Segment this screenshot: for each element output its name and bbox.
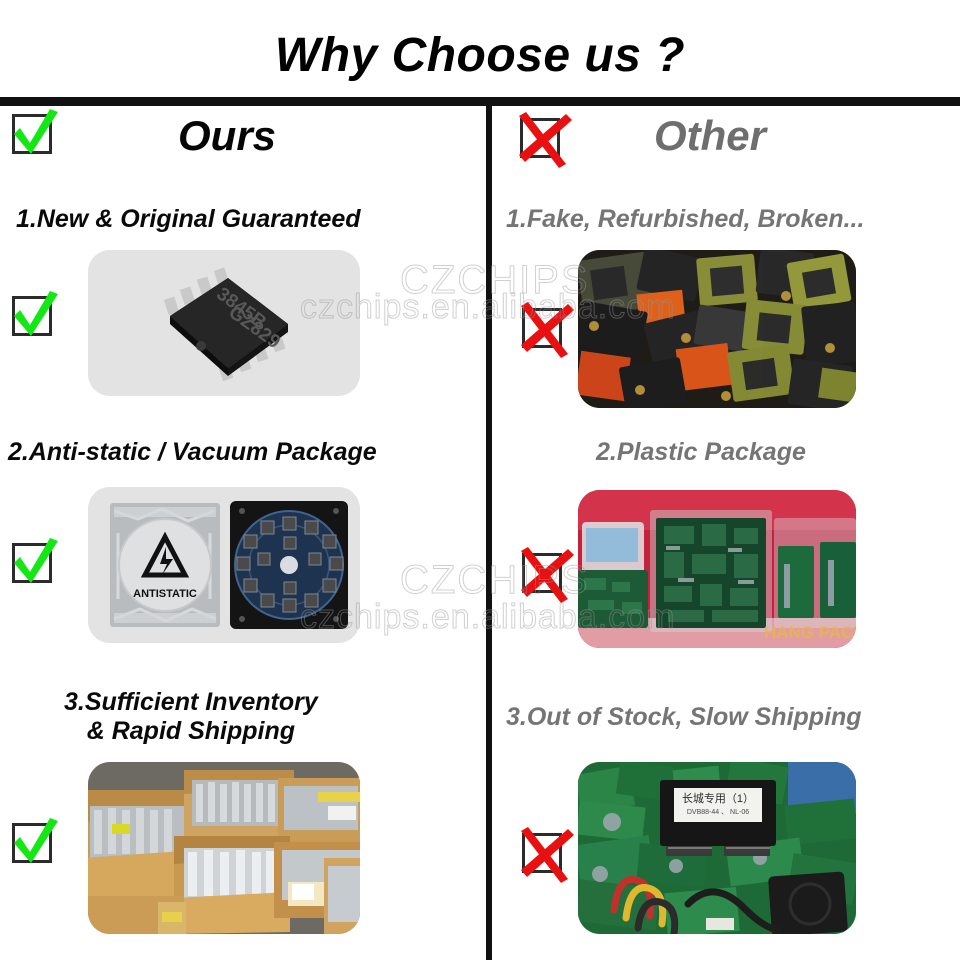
photo-stocked-cartons [88, 762, 360, 934]
check-mark-icon [6, 288, 62, 344]
check-mark-icon [6, 815, 62, 871]
row-label-left-3: 3.Sufficient Inventory & Rapid Shipping [64, 688, 318, 747]
cross-mark-icon [516, 300, 572, 356]
page-title: Why Choose us ? [0, 28, 960, 83]
check-mark-icon [6, 106, 62, 162]
column-divider [486, 104, 492, 960]
row-label-right-3: 3.Out of Stock, Slow Shipping [506, 703, 862, 732]
row-label-right-1: 1.Fake, Refurbished, Broken... [506, 205, 864, 234]
column-heading-other: Other [654, 112, 766, 160]
svg-text:DVB88-44 、 NL-06: DVB88-44 、 NL-06 [687, 809, 749, 816]
row-label-right-2: 2.Plastic Package [596, 438, 806, 467]
watermark-brand: CZCHIPS [400, 258, 590, 303]
header-divider [0, 97, 960, 106]
photo-scrap-chips [578, 250, 856, 408]
svg-text:HANG PACK: HANG PACK [764, 623, 856, 642]
cross-mark-icon [514, 110, 570, 166]
cross-mark-icon [516, 545, 572, 601]
row-label-left-1: 1.New & Original Guaranteed [16, 205, 361, 234]
photo-plastic-package: HANG PACK [578, 490, 856, 648]
photo-ic-chip: 3845B GZ829 [88, 250, 360, 396]
column-heading-ours: Ours [178, 112, 276, 160]
comparison-infographic: Why Choose us ? Ours Other 1.New & Origi… [0, 0, 960, 960]
photo-pcb-scrap-pile: 长城专用（1） DVB88-44 、 NL-06 [578, 762, 856, 934]
photo-antistatic-package: ANTISTATIC [88, 487, 360, 643]
check-mark-icon [6, 535, 62, 591]
svg-text:长城专用（1）: 长城专用（1） [682, 791, 754, 805]
cross-mark-icon [516, 825, 572, 881]
svg-text:ANTISTATIC: ANTISTATIC [133, 588, 197, 600]
row-label-left-2: 2.Anti-static / Vacuum Package [8, 438, 377, 467]
